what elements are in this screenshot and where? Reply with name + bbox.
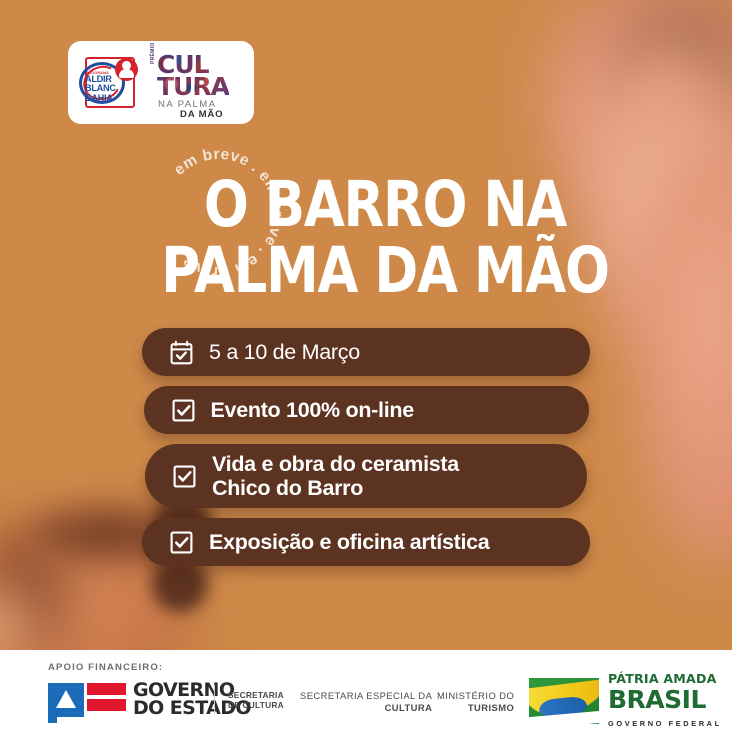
- sponsor-logo-card: PROGRAMA ALDIR BLANC BAHIA PRÊMIO CUL TU…: [68, 41, 254, 124]
- cultura-wordmark: CUL TURA: [157, 54, 229, 98]
- brasil-line-1: PÁTRIA AMADA: [608, 671, 717, 686]
- brazil-flag-icon: [529, 678, 599, 724]
- secretaria-especial-da-cultura-text: SECRETARIA ESPECIAL DA CULTURA: [300, 690, 432, 714]
- secretaria-especial-line-1: SECRETARIA ESPECIAL DA: [300, 690, 432, 701]
- brasil-line-2: BRASIL: [608, 685, 706, 714]
- brasil-line-3: GOVERNO FEDERAL: [608, 719, 722, 728]
- bahia-flag-icon: [48, 683, 126, 717]
- brasil-text-block: PÁTRIA AMADA BRASIL GOVERNO FEDERAL: [608, 670, 722, 731]
- list-item-label-second-line: Chico do Barro: [212, 476, 363, 500]
- governo-do-estado-logo: GOVERNO DO ESTADO: [48, 682, 251, 717]
- list-item-label: Evento 100% on-line: [211, 398, 414, 422]
- footer-sponsor-bar: APOIO FINANCEIRO: GOVERNO DO ESTADO SECR…: [0, 650, 732, 732]
- secretaria-cultura-line-2: DE CULTURA: [228, 700, 284, 710]
- flag-tail-shape: [48, 717, 57, 723]
- checkbox-checked-icon: [171, 463, 198, 490]
- title-line-1: O BARRO NA: [94, 172, 677, 238]
- list-item-date[interactable]: 5 a 10 de Março: [142, 328, 590, 376]
- cultura-sub-line-2: DA MÃO: [180, 109, 223, 120]
- patria-amada-brasil-logo: PÁTRIA AMADA BRASIL GOVERNO FEDERAL: [529, 670, 722, 731]
- calendar-check-icon: [168, 339, 195, 366]
- flag-red-stripe-bottom: [87, 699, 126, 711]
- ministerio-line-1: MINISTÉRIO DO: [437, 690, 514, 701]
- aldir-blanc-bahia-name: ALDIR BLANC BAHIA: [85, 75, 133, 104]
- apoio-financeiro-label: APOIO FINANCEIRO:: [48, 662, 163, 673]
- aldir-blanc-bahia-logo: PROGRAMA ALDIR BLANC BAHIA: [77, 53, 143, 113]
- checkbox-checked-icon: [170, 397, 197, 424]
- list-item-ceramista[interactable]: Vida e obra do ceramista Chico do Barro: [145, 444, 587, 508]
- aldir-line-1: ALDIR: [85, 74, 112, 84]
- ministerio-line-2: TURISMO: [468, 702, 514, 713]
- aldir-line-3: BAHIA: [85, 93, 113, 103]
- flag-white-triangle: [56, 690, 76, 708]
- event-info-list: 5 a 10 de Março Evento 100% on-line Vida…: [0, 328, 732, 566]
- list-item-online[interactable]: Evento 100% on-line: [144, 386, 589, 434]
- list-item-label: Vida e obra do ceramista: [212, 452, 459, 476]
- cultura-premio-label: PRÊMIO: [150, 42, 156, 64]
- cultura-na-palma-da-mao-logo: PRÊMIO CUL TURA NA PALMA DA MÃO: [149, 49, 246, 117]
- cultura-line-2: TURA: [157, 72, 229, 101]
- page-title: O BARRO NA PALMA DA MÃO: [0, 172, 732, 304]
- secretaria-de-cultura-text: SECRETARIA DE CULTURA: [228, 690, 284, 710]
- footer-divider: [214, 685, 215, 713]
- ministerio-do-turismo-text: MINISTÉRIO DO TURISMO: [437, 690, 514, 714]
- checkbox-checked-icon: [168, 529, 195, 556]
- list-item-label: Exposição e oficina artística: [209, 530, 489, 554]
- aldir-line-2: BLANC: [85, 83, 116, 93]
- flag-red-stripe-top: [87, 683, 126, 695]
- secretaria-cultura-line-1: SECRETARIA: [228, 690, 284, 700]
- list-item-label: 5 a 10 de Março: [209, 340, 360, 364]
- list-item-label-multiline: Vida e obra do ceramista Chico do Barro: [212, 452, 459, 500]
- list-item-exposicao[interactable]: Exposição e oficina artística: [142, 518, 590, 566]
- secretaria-especial-line-2: CULTURA: [385, 702, 433, 713]
- title-line-2: PALMA DA MÃO: [94, 238, 677, 304]
